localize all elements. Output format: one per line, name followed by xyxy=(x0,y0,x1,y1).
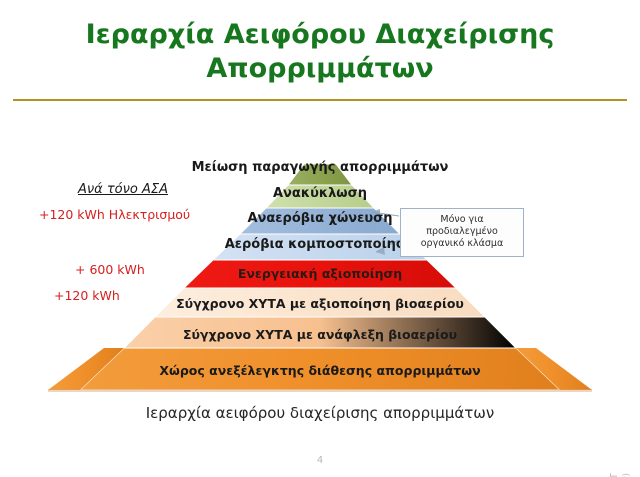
title-divider-rule xyxy=(13,99,627,101)
pyramid-layer-label-7: Σύγχρονο ΧΥΤΑ με ανάφλεξη βιοαερίου xyxy=(80,327,560,342)
callout-line-2: οργανικό κλάσμα xyxy=(406,238,518,250)
pyramid-layer-label-5: Ενεργειακή αξιοποίηση xyxy=(120,266,520,281)
annotation-energy-600: + 600 kWh xyxy=(75,262,145,277)
pyramid-layer-label-8: Χώρος ανεξέλεγκτης διάθεσης απορριμμάτων xyxy=(62,363,578,378)
credit-url: (www.wtert.gr) xyxy=(622,473,632,477)
annotation-per-tonne-heading: Ανά τόνο ΑΣΑ xyxy=(78,182,168,197)
annotation-electricity: +120 kWh Ηλεκτρισμού xyxy=(39,207,190,222)
pyramid-layer-label-1: Μείωση παραγωγής απορριμμάτων xyxy=(115,160,525,175)
source-credit: ΣΥΝΕΡΓΕΙΑ – WTERT (www.wtert.gr) xyxy=(608,323,638,473)
page-title: Ιεραρχία Αειφόρου Διαχείρισης Απορριμμάτ… xyxy=(0,18,640,86)
slide-canvas: Ιεραρχία Αειφόρου Διαχείρισης Απορριμμάτ… xyxy=(0,0,640,477)
callout-box-presorted-organics: Μόνο για προδιαλεγμένο οργανικό κλάσμα xyxy=(400,208,524,257)
annotation-energy-120: +120 kWh xyxy=(54,288,120,303)
callout-line-1: Μόνο για προδιαλεγμένο xyxy=(406,214,518,238)
pyramid-layer-label-6: Σύγχρονο ΧΥΤΑ με αξιοποίηση βιοαερίου xyxy=(95,296,545,311)
pyramid-caption: Ιεραρχία αειφόρου διαχείρισης απορριμμάτ… xyxy=(0,404,640,422)
page-number: 4 xyxy=(0,455,640,466)
page-title-line-1: Ιεραρχία Αειφόρου Διαχείρισης xyxy=(0,18,640,52)
pyramid-layer-label-2: Ανακύκλωση xyxy=(175,186,465,201)
credit-organization: ΣΥΝΕΡΓΕΙΑ – WTERT xyxy=(609,473,620,477)
page-title-line-2: Απορριμμάτων xyxy=(0,52,640,86)
